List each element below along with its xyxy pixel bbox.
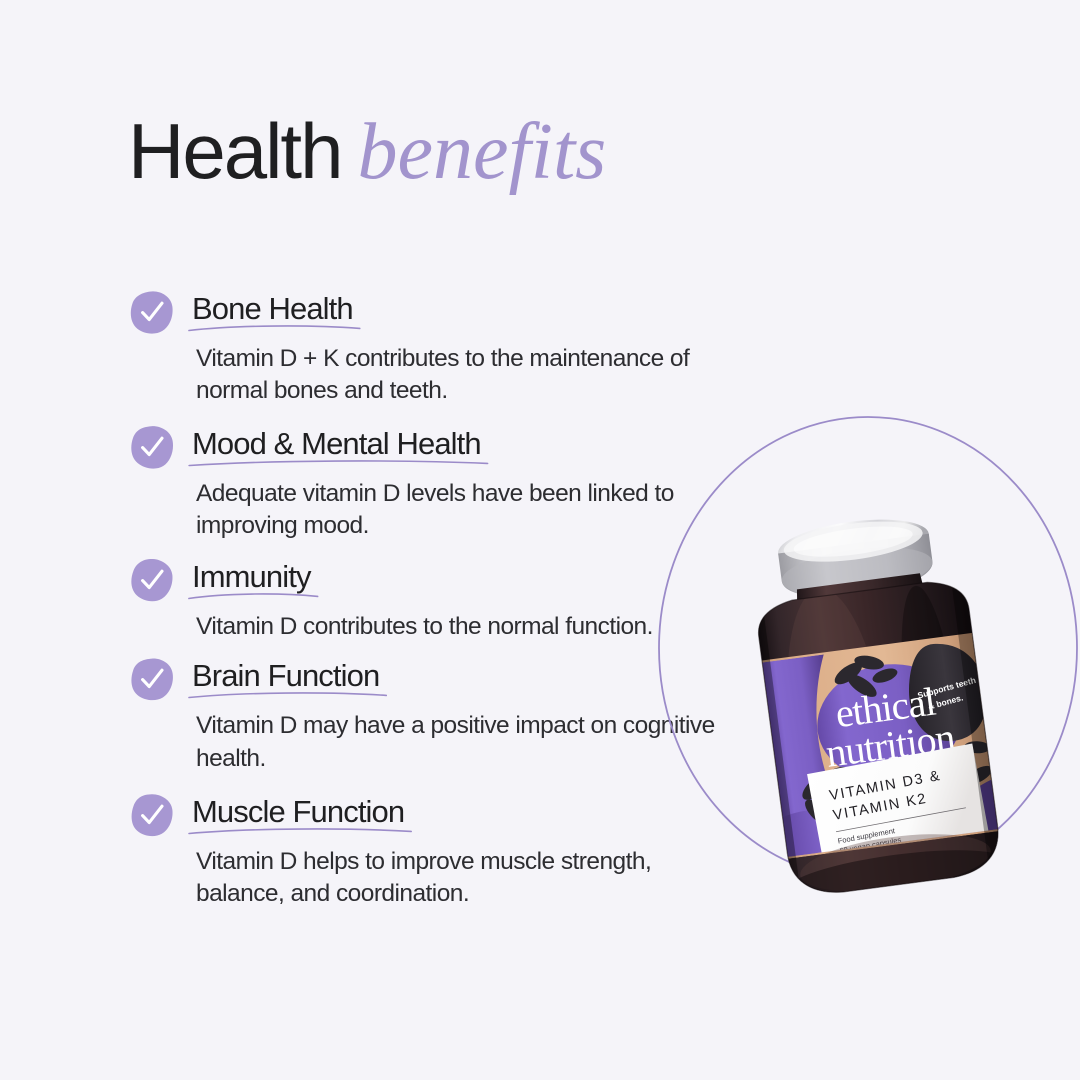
benefit-title: Brain Function: [192, 660, 379, 691]
benefit-title-wrap: Brain Function: [192, 660, 379, 698]
benefit-title: Mood & Mental Health: [192, 428, 481, 459]
check-circle-icon: [130, 793, 174, 837]
title-underline: [188, 591, 319, 601]
benefit-title: Bone Health: [192, 293, 353, 324]
title-underline: [188, 826, 412, 836]
product-brand-line-1: ethical: [640, 400, 641, 401]
check-circle-icon: [130, 657, 174, 701]
benefit-title-wrap: Mood & Mental Health: [192, 428, 481, 466]
list-item: Mood & Mental Health Adequate vitamin D …: [130, 423, 720, 542]
supplement-bottle: ethical nutrition Supports teeth & bones…: [706, 456, 1040, 919]
benefit-title-wrap: Immunity: [192, 561, 311, 599]
list-item: Muscle Function Vitamin D helps to impro…: [130, 791, 720, 910]
poster-canvas: Health benefits Bone Health: [0, 0, 1080, 1080]
list-item: Brain Function Vitamin D may have a posi…: [130, 655, 720, 774]
page-title-main: Health: [128, 112, 341, 190]
benefit-header: Immunity: [130, 556, 720, 604]
list-item: Bone Health Vitamin D + K contributes to…: [130, 288, 720, 407]
benefit-title-wrap: Muscle Function: [192, 796, 404, 834]
list-item: Immunity Vitamin D contributes to the no…: [130, 556, 720, 643]
title-underline: [188, 323, 361, 333]
benefit-header: Bone Health: [130, 288, 720, 336]
title-underline: [188, 458, 489, 468]
benefit-title: Immunity: [192, 561, 311, 592]
benefit-header: Brain Function: [130, 655, 720, 703]
product-brand-line-2: nutrition: [640, 400, 641, 401]
benefit-header: Mood & Mental Health: [130, 423, 720, 471]
product-fineprint-2: 60 vegan capsules: [640, 400, 641, 401]
benefit-title-wrap: Bone Health: [192, 293, 353, 331]
page-title: Health benefits: [128, 112, 606, 192]
product-name-line-2: VITAMIN K2: [640, 400, 641, 401]
benefit-description: Vitamin D + K contributes to the mainten…: [196, 343, 720, 407]
title-underline: [188, 690, 387, 700]
benefits-list: Bone Health Vitamin D + K contributes to…: [130, 288, 720, 910]
product-name-line-1: VITAMIN D3 &: [640, 400, 641, 401]
product-image: ethical nutrition Supports teeth & bones…: [640, 400, 1080, 930]
product-badge-line-1: Supports teeth: [640, 400, 641, 401]
benefit-header: Muscle Function: [130, 791, 720, 839]
check-circle-icon: [130, 558, 174, 602]
product-badge-line-2: & bones.: [640, 400, 641, 401]
page-title-accent: benefits: [357, 112, 606, 192]
check-circle-icon: [130, 425, 174, 469]
benefit-title: Muscle Function: [192, 796, 404, 827]
check-circle-icon: [130, 290, 174, 334]
product-fineprint-1: Food supplement: [640, 400, 641, 401]
